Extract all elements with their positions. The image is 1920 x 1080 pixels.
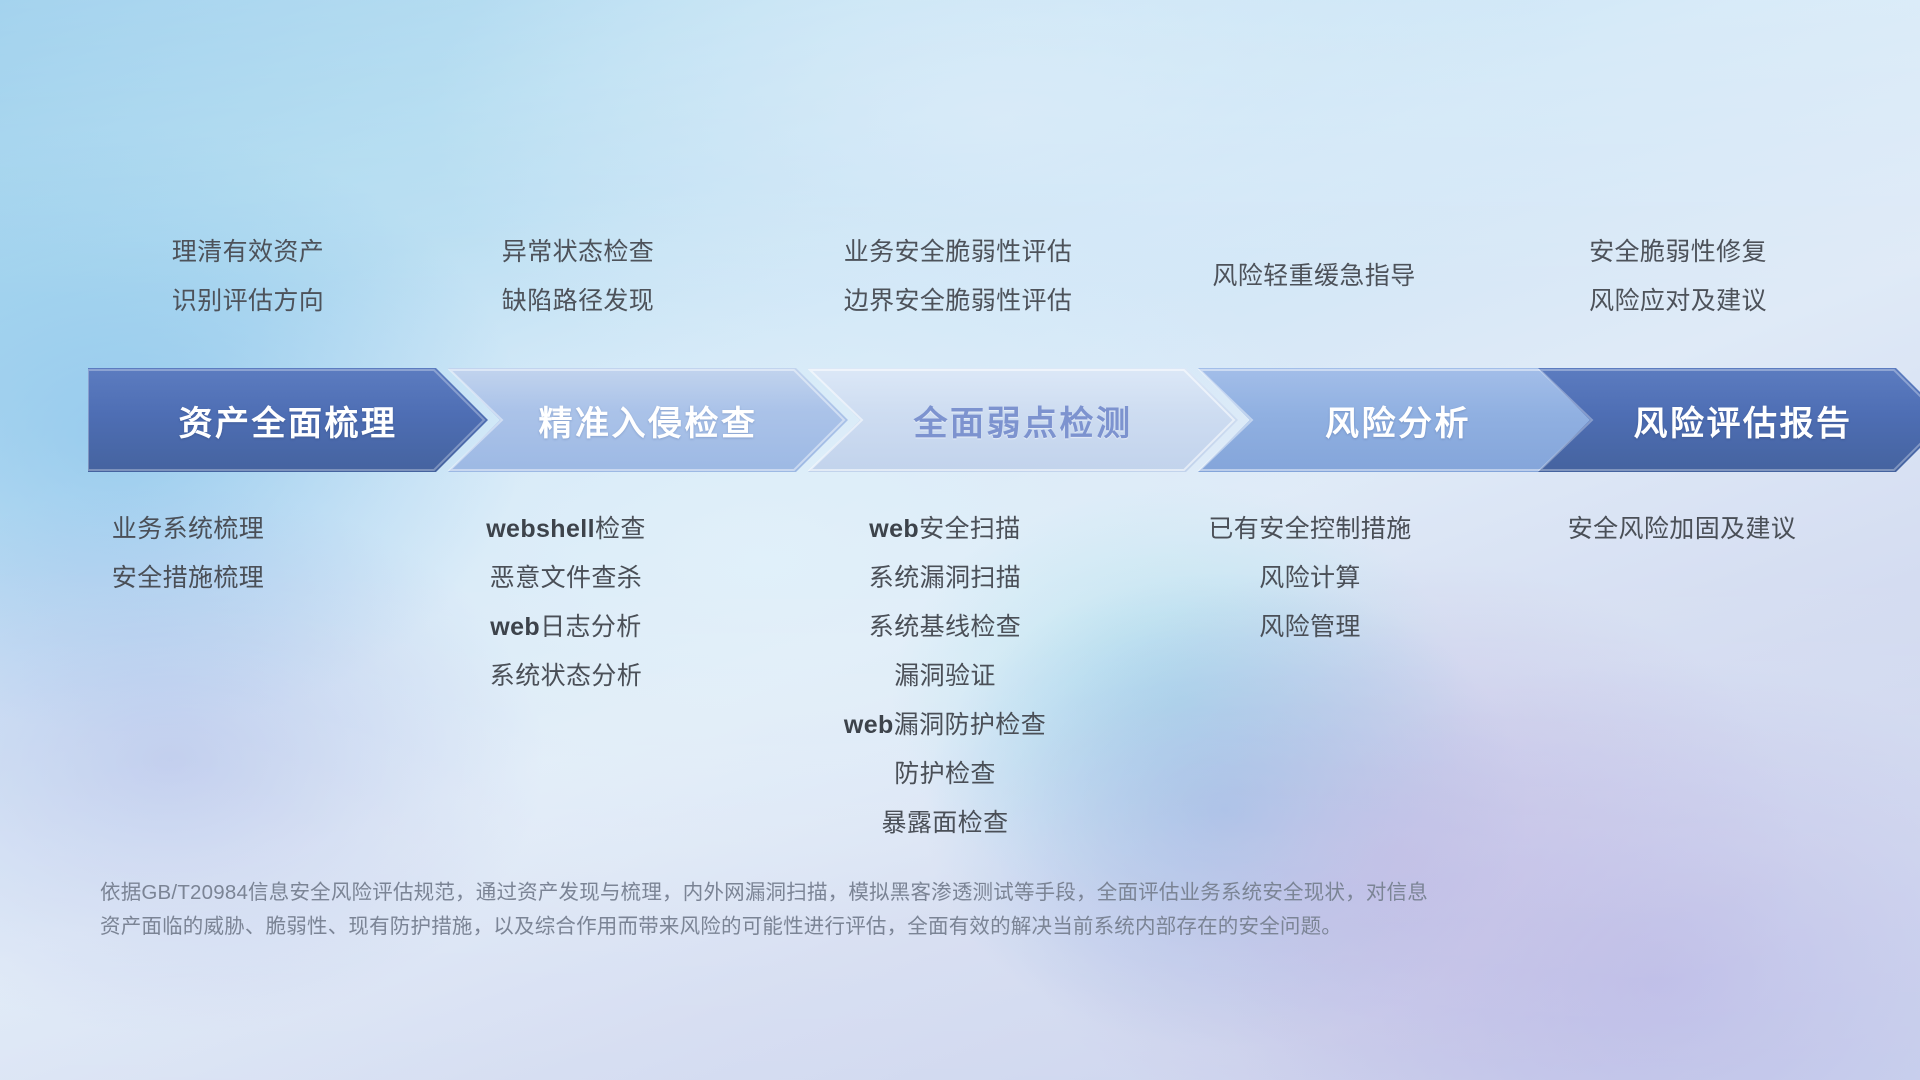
top-item: 异常状态检查 (378, 228, 778, 277)
chevron-stage-5[interactable]: 风险评估报告 (1538, 368, 1920, 472)
bottom-item: 暴露面检查 (730, 799, 1160, 848)
bottom-item: web漏洞防护检查 (730, 701, 1160, 750)
process-chevron-band: 资产全面梳理 精准入侵检查 (88, 368, 1848, 472)
top-item: 安全脆弱性修复 (1468, 228, 1888, 277)
bottom-item: 安全风险加固及建议 (1462, 505, 1902, 554)
chevron-label: 资产全面梳理 (179, 396, 398, 445)
stage-bottom-items-3: web安全扫描 系统漏洞扫描 系统基线检查 漏洞验证 web漏洞防护检查 防护检… (730, 505, 1160, 848)
chevron-label: 风险评估报告 (1634, 396, 1853, 445)
chevron-label: 全面弱点检测 (914, 396, 1133, 445)
chevron-stage-1[interactable]: 资产全面梳理 (88, 368, 488, 472)
bottom-item: 已有安全控制措施 (1110, 505, 1510, 554)
chevron-label: 风险分析 (1325, 396, 1471, 445)
bottom-item: web安全扫描 (730, 505, 1160, 554)
footer-description: 依据GB/T20984信息安全风险评估规范，通过资产发现与梳理，内外网漏洞扫描，… (100, 876, 1660, 944)
footer-line-1: 依据GB/T20984信息安全风险评估规范，通过资产发现与梳理，内外网漏洞扫描，… (100, 876, 1660, 910)
stage-bottom-items-2: webshell检查 恶意文件查杀 web日志分析 系统状态分析 (366, 505, 766, 701)
bottom-item: web日志分析 (366, 603, 766, 652)
stage-bottom-items-5: 安全风险加固及建议 (1462, 505, 1902, 554)
bottom-item: 系统状态分析 (366, 652, 766, 701)
chevron-stage-3[interactable]: 全面弱点检测 (808, 368, 1238, 472)
bottom-item: 漏洞验证 (730, 652, 1160, 701)
bottom-item: 风险管理 (1110, 603, 1510, 652)
chevron-stage-2[interactable]: 精准入侵检查 (448, 368, 848, 472)
bottom-item: 风险计算 (1110, 554, 1510, 603)
bottom-item: 系统漏洞扫描 (730, 554, 1160, 603)
bottom-item: 业务系统梳理 (0, 505, 388, 554)
bottom-item: 安全措施梳理 (0, 554, 388, 603)
top-item: 缺陷路径发现 (378, 277, 778, 326)
bottom-item: 恶意文件查杀 (366, 554, 766, 603)
stage-top-items-5: 安全脆弱性修复 风险应对及建议 (1468, 228, 1888, 326)
bottom-item-suffix: 日志分析 (540, 613, 642, 641)
bottom-item: 系统基线检查 (730, 603, 1160, 652)
bottom-item-suffix: 安全扫描 (919, 515, 1021, 543)
bottom-item: 防护检查 (730, 750, 1160, 799)
footer-line-2: 资产面临的威胁、脆弱性、现有防护措施，以及综合作用而带来风险的可能性进行评估，全… (100, 910, 1660, 944)
bottom-item-suffix: 检查 (595, 515, 646, 543)
bottom-item: webshell检查 (366, 505, 766, 554)
stage-bottom-items-4: 已有安全控制措施 风险计算 风险管理 (1110, 505, 1510, 652)
top-item: 风险应对及建议 (1468, 277, 1888, 326)
bottom-item-suffix: 漏洞防护检查 (894, 711, 1046, 739)
stage-top-items-2: 异常状态检查 缺陷路径发现 (378, 228, 778, 326)
slide-canvas: 理清有效资产 识别评估方向 异常状态检查 缺陷路径发现 业务安全脆弱性评估 边界… (0, 0, 1920, 1080)
chevron-label: 精准入侵检查 (539, 396, 758, 445)
stage-bottom-items-1: 业务系统梳理 安全措施梳理 (0, 505, 388, 603)
